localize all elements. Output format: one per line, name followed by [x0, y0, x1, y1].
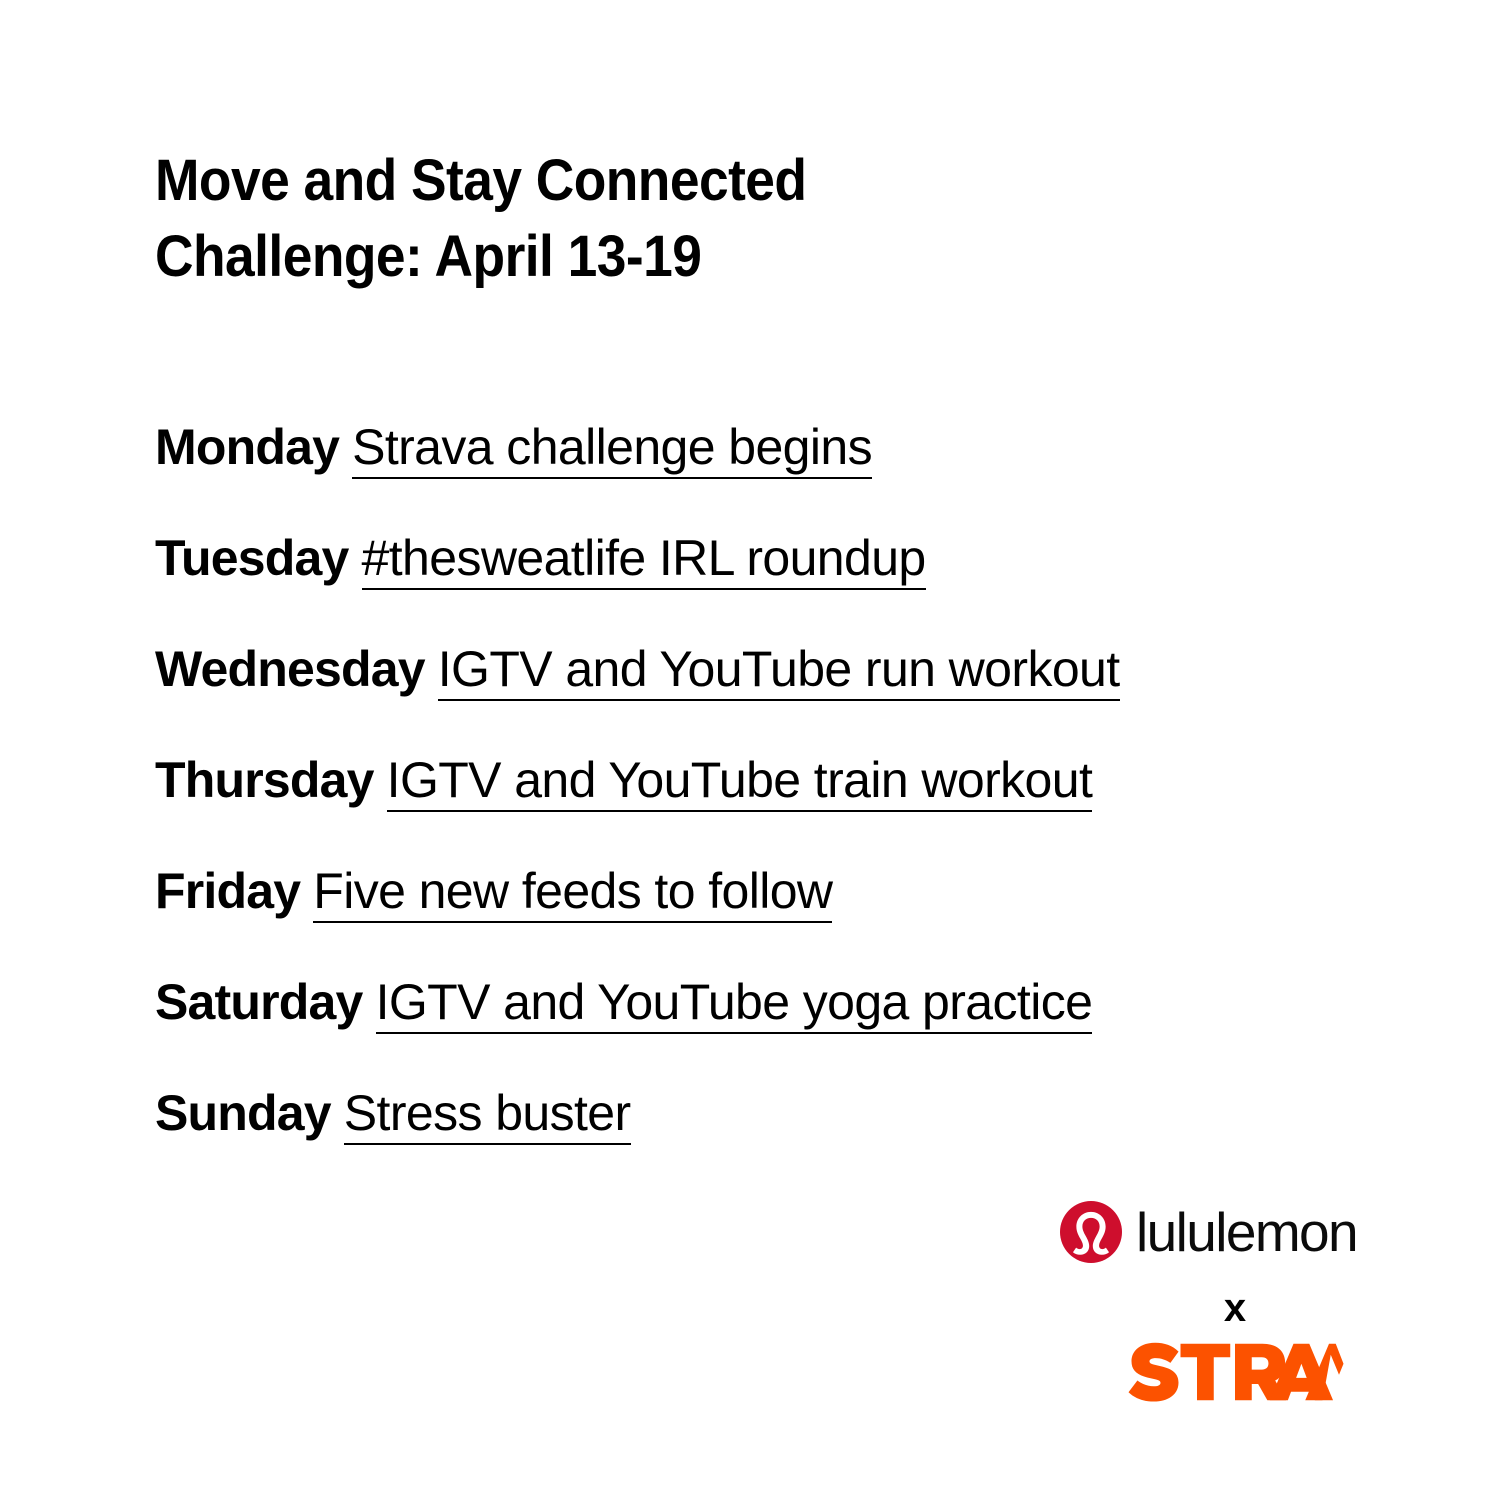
schedule-row-wednesday: WednesdayIGTV and YouTube run workout	[155, 614, 1415, 725]
schedule-day-label: Monday	[155, 419, 339, 475]
schedule-activity-link[interactable]: Strava challenge begins	[352, 419, 872, 479]
schedule-day-label: Saturday	[155, 974, 363, 1030]
lululemon-wordmark: lululemon	[1136, 1201, 1357, 1263]
schedule-day-label: Thursday	[155, 752, 374, 808]
schedule-row-friday: FridayFive new feeds to follow	[155, 836, 1415, 947]
schedule-row-thursday: ThursdayIGTV and YouTube train workout	[155, 725, 1415, 836]
schedule-row-sunday: SundayStress buster	[155, 1058, 1415, 1169]
schedule-row-saturday: SaturdayIGTV and YouTube yoga practice	[155, 947, 1415, 1058]
strava-wordmark-icon	[1128, 1342, 1344, 1404]
page-title-line-2: Challenge: April 13-19	[155, 219, 1075, 295]
schedule-row-monday: MondayStrava challenge begins	[155, 392, 1415, 503]
schedule-activity-link[interactable]: Five new feeds to follow	[313, 863, 832, 923]
logo-separator-x: x	[1060, 1288, 1420, 1328]
page-title: Move and Stay Connected Challenge: April…	[155, 143, 1155, 295]
cobrand-logo-lockup: lululemon x	[1060, 1196, 1420, 1409]
schedule-day-label: Friday	[155, 863, 300, 919]
schedule-activity-link[interactable]: IGTV and YouTube yoga practice	[376, 974, 1093, 1034]
lululemon-omega-icon	[1060, 1201, 1122, 1263]
page-title-line-1: Move and Stay Connected	[155, 143, 1075, 219]
schedule-activity-link[interactable]: Stress buster	[344, 1085, 631, 1145]
strava-logo	[1060, 1342, 1420, 1409]
weekly-schedule-list: MondayStrava challenge begins Tuesday#th…	[155, 392, 1415, 1169]
schedule-activity-link[interactable]: IGTV and YouTube train workout	[387, 752, 1093, 812]
schedule-row-tuesday: Tuesday#thesweatlife IRL roundup	[155, 503, 1415, 614]
lululemon-logo: lululemon	[1060, 1196, 1420, 1268]
schedule-activity-link[interactable]: IGTV and YouTube run workout	[438, 641, 1120, 701]
schedule-day-label: Sunday	[155, 1085, 331, 1141]
schedule-activity-link[interactable]: #thesweatlife IRL roundup	[362, 530, 926, 590]
challenge-announcement-card: Move and Stay Connected Challenge: April…	[0, 0, 1500, 1500]
schedule-day-label: Wednesday	[155, 641, 425, 697]
schedule-day-label: Tuesday	[155, 530, 349, 586]
